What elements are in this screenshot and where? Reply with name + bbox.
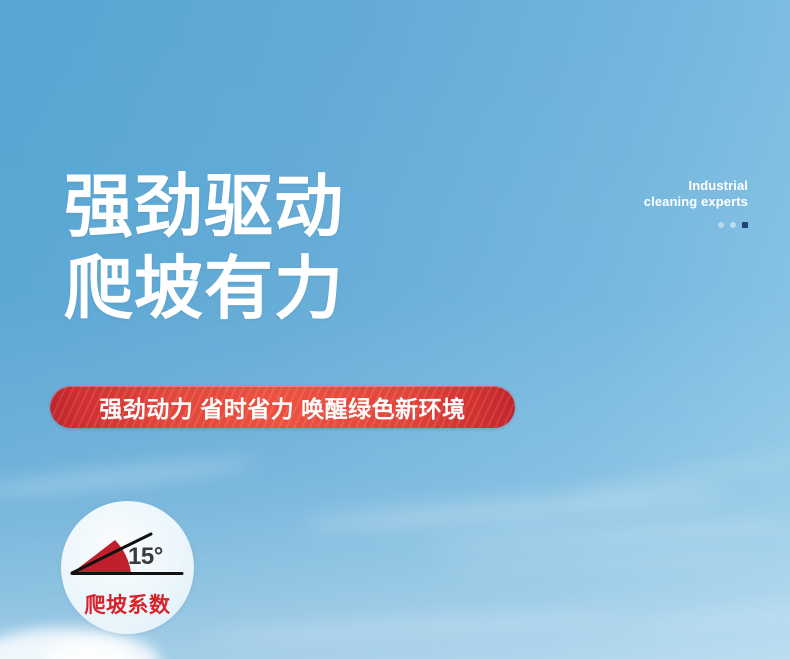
headline: 强劲驱动 爬坡有力 [64, 166, 344, 330]
brand-line-2: cleaning experts [644, 194, 748, 210]
cloud-wisp [200, 609, 630, 646]
brand-line-1: Industrial [644, 178, 748, 194]
tagline-text: 强劲动力 省时省力 唤醒绿色新环境 [99, 390, 465, 424]
cloud-bottom-left-small [44, 640, 134, 659]
headline-line-2: 爬坡有力 [64, 248, 344, 330]
cloud-wisp [561, 450, 790, 504]
cloud-wisp [300, 485, 730, 535]
carousel-dots[interactable] [644, 222, 748, 228]
slope-angle-label: 15° [128, 543, 163, 571]
carousel-dot-2[interactable] [730, 222, 736, 228]
cloud-wisp [0, 454, 260, 501]
hero-banner: 强劲驱动 爬坡有力 强劲动力 省时省力 唤醒绿色新环境 Industrial c… [0, 0, 790, 659]
brand-block: Industrial cleaning experts [644, 178, 748, 228]
tagline-pill: 强劲动力 省时省力 唤醒绿色新环境 [50, 386, 515, 428]
carousel-dot-1[interactable] [718, 222, 724, 228]
slope-badge-caption: 爬坡系数 [61, 589, 194, 619]
slope-badge: 15° 爬坡系数 [61, 501, 194, 634]
headline-line-1: 强劲驱动 [64, 166, 344, 248]
cloud-wisp [620, 601, 790, 636]
cloud-wisp [430, 550, 760, 573]
carousel-dot-3-active[interactable] [742, 222, 748, 228]
cloud-wisp [420, 518, 790, 552]
